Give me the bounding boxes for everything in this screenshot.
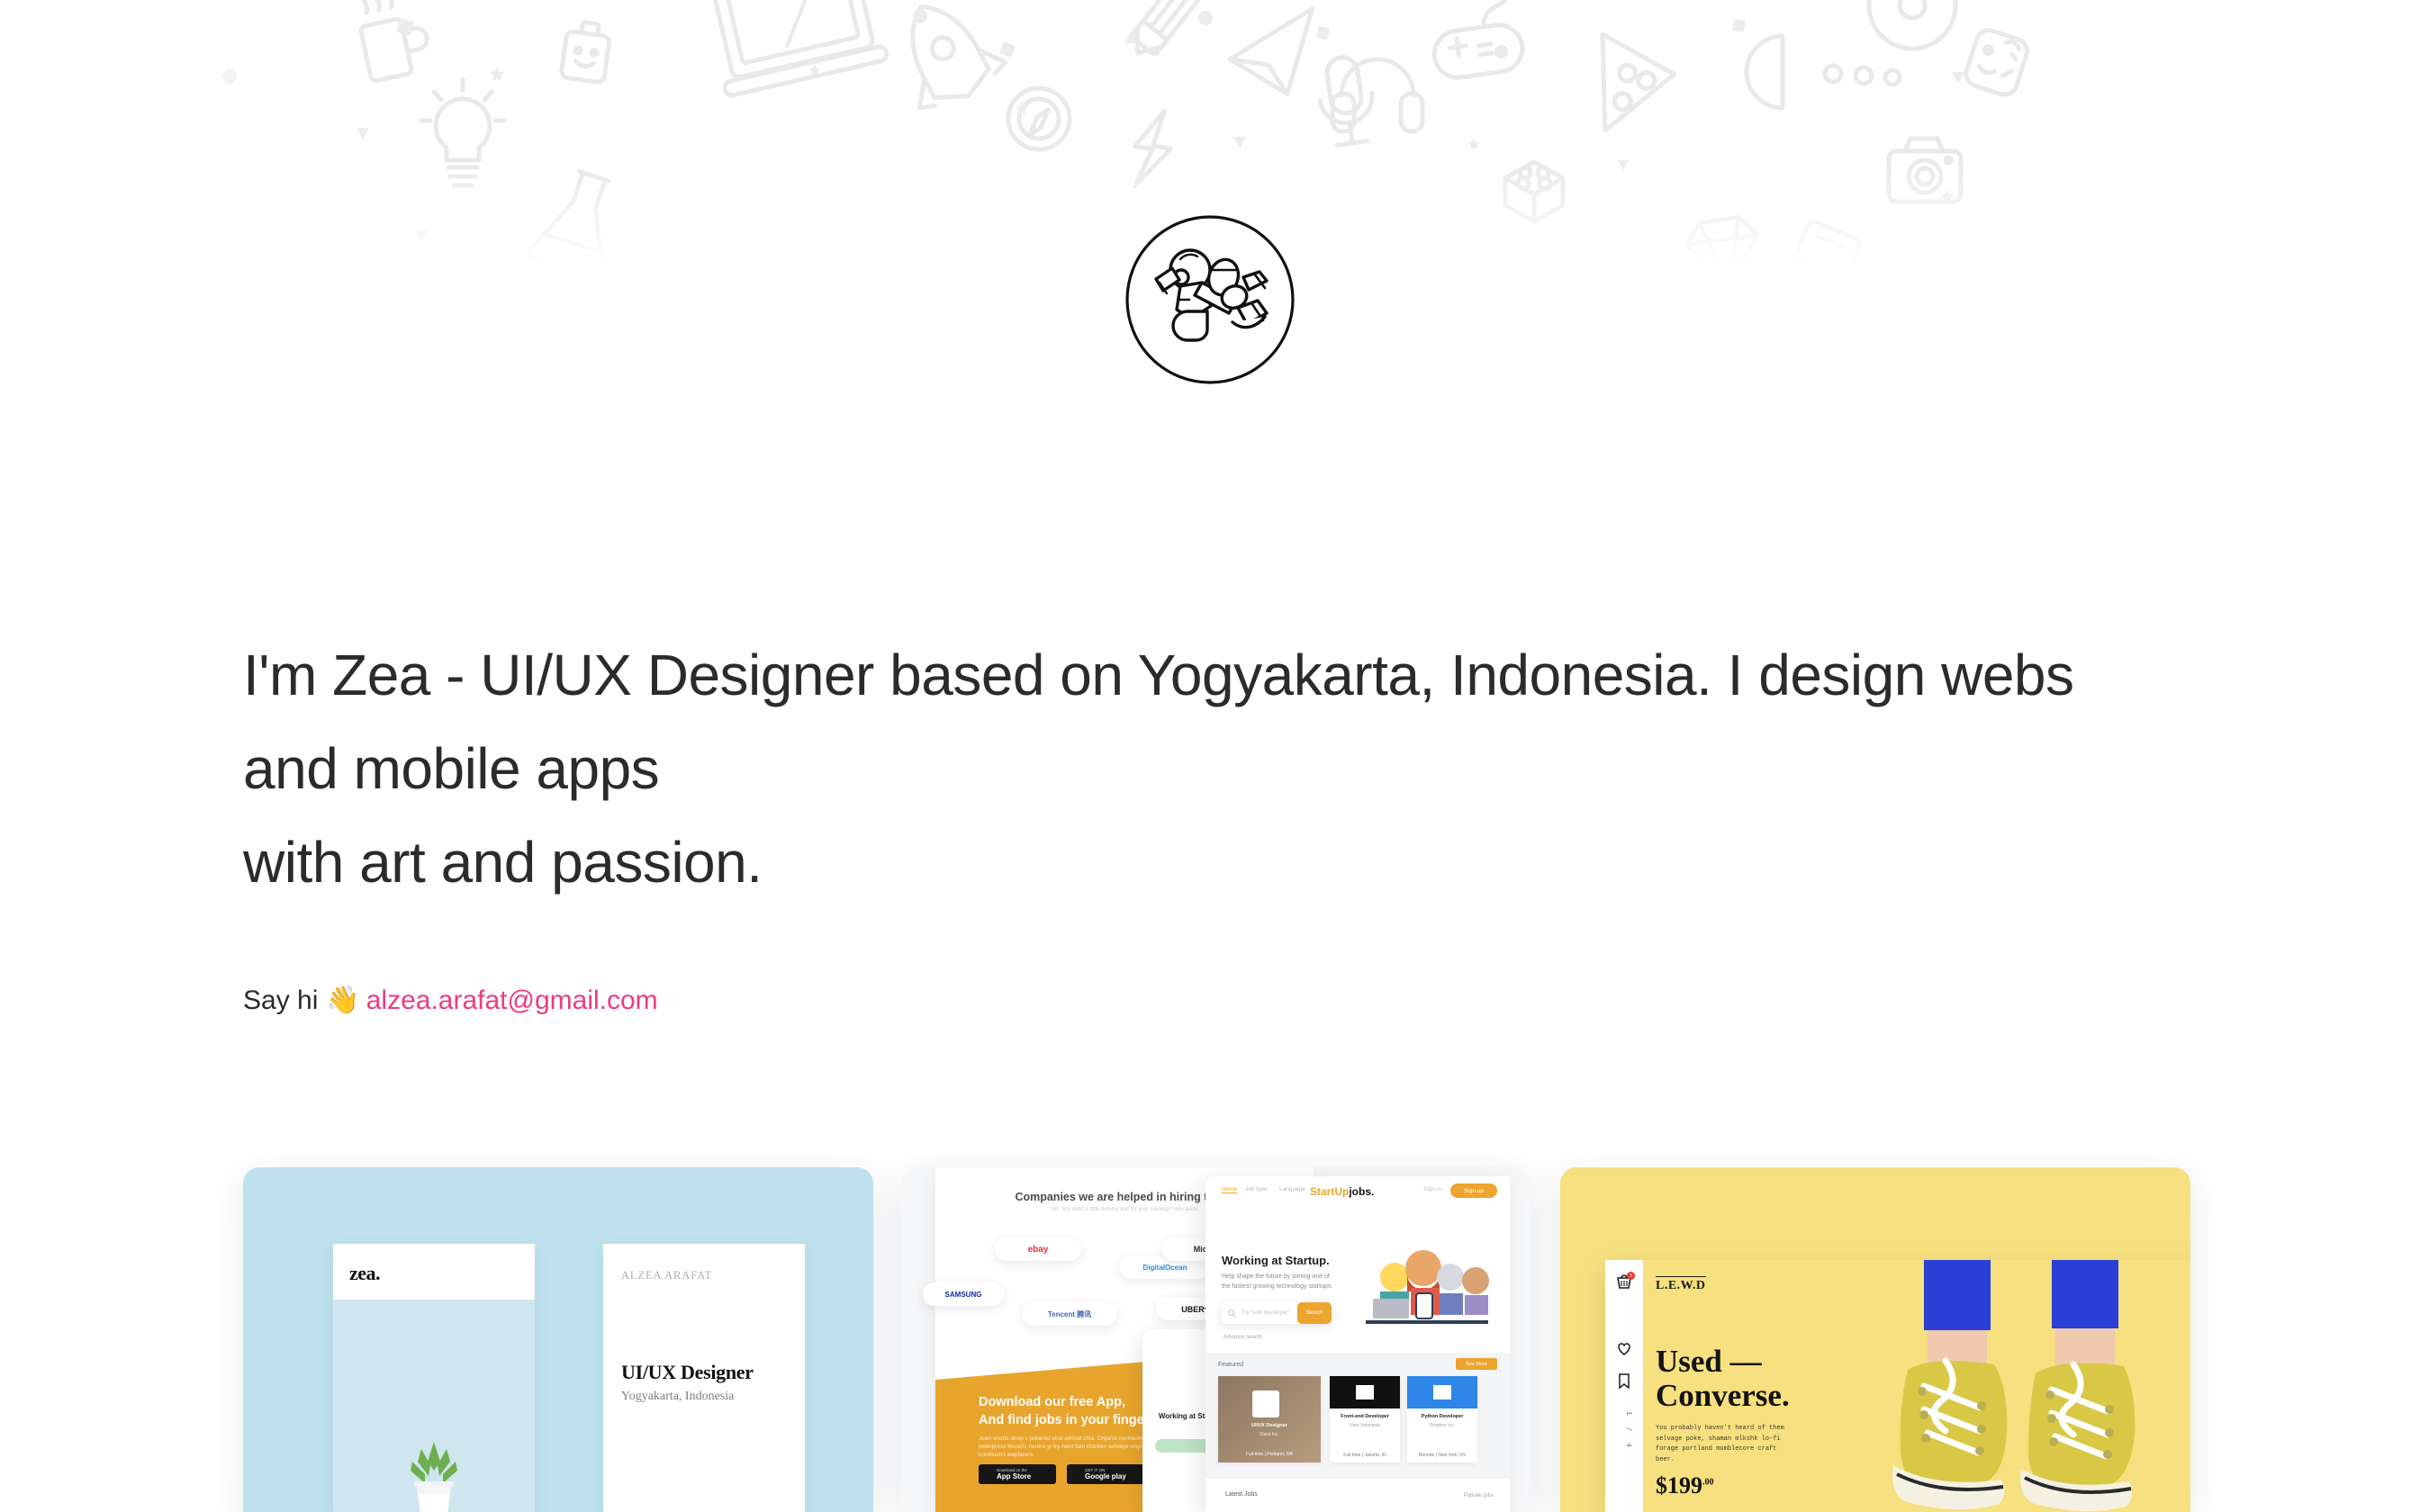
- job-card-2[interactable]: Python Developer Dropbox Inc. Remote | N…: [1407, 1376, 1477, 1462]
- shop-brand: L.E.W.D: [1656, 1276, 1706, 1293]
- product-price: $199.00: [1656, 1472, 1714, 1499]
- project-cards: zea. ALZEA ARAFAT UI/UX Designer: [0, 1167, 2420, 1512]
- page-title: I'm Zea - UI/UX Designer based on Yogyak…: [243, 628, 2134, 909]
- job-company: Uber Indonesia: [1330, 1423, 1400, 1428]
- project-card-personal-branding[interactable]: zea. ALZEA ARAFAT UI/UX Designer: [243, 1167, 873, 1512]
- brand-card-front: zea.: [333, 1244, 535, 1512]
- product-hero: L.E.W.D Used — Converse. You probably ha…: [1643, 1260, 2190, 1512]
- jobs-site-mockup: Home Job type Language StartUpjobs. Sign…: [1205, 1176, 1510, 1512]
- company-logo-samsung: SAMSUNG: [923, 1282, 1004, 1306]
- project-card-lewd-shop[interactable]: 3 1 / 4 L.E.W.D Used — Converse. Yo: [1560, 1167, 2190, 1512]
- cart-count-badge: 3: [1627, 1272, 1635, 1280]
- plant-illustration: [387, 1436, 481, 1512]
- dropbox-logo: [1433, 1385, 1451, 1399]
- sign-in-link[interactable]: Sign in: [1423, 1186, 1441, 1192]
- search-placeholder: Try "web developer": [1242, 1310, 1289, 1316]
- advance-search-toggle[interactable]: Advance search: [1224, 1335, 1262, 1340]
- job-card-1[interactable]: Front-end Developer Uber Indonesia Full-…: [1330, 1376, 1400, 1462]
- job-thumb: [1218, 1376, 1321, 1462]
- job-search-box[interactable]: Try "web developer" Search: [1222, 1302, 1332, 1324]
- download-headline-1: Download our free App,: [979, 1395, 1125, 1409]
- popular-jobs-filter[interactable]: Popular jobs: [1464, 1493, 1494, 1498]
- nav-link-job-type[interactable]: Job type: [1245, 1186, 1268, 1192]
- search-icon: [1228, 1309, 1236, 1318]
- astronaut-logo[interactable]: [1124, 214, 1296, 385]
- jobs-hero-heading: Working at Startup.: [1222, 1254, 1330, 1267]
- jobs-hero-body: Help shape the future by joining one of …: [1222, 1272, 1339, 1291]
- nav-link-home[interactable]: Home: [1222, 1186, 1237, 1193]
- company-logo-tencent: Tencent 腾讯: [1022, 1302, 1117, 1326]
- brand-mark: zea.: [349, 1262, 380, 1285]
- contact-prefix: Say hi: [243, 982, 318, 1020]
- nav-link-language[interactable]: Language: [1279, 1186, 1305, 1192]
- person-location: Yogyakarta, Indonesia: [621, 1390, 734, 1404]
- job-company: Dropbox Inc.: [1407, 1423, 1477, 1428]
- waving-hand-icon: 👋: [326, 987, 359, 1014]
- job-meta: Full-time | Jakarta, ID: [1330, 1453, 1400, 1458]
- shop-side-rail: 3 1 / 4: [1605, 1260, 1643, 1512]
- bookmark-icon[interactable]: [1615, 1372, 1633, 1390]
- featured-label: Featured: [1218, 1362, 1243, 1368]
- heart-icon[interactable]: [1615, 1339, 1633, 1357]
- person-name: ALZEA ARAFAT: [621, 1269, 712, 1282]
- shop-mockup: 3 1 / 4 L.E.W.D Used — Converse. Yo: [1605, 1260, 2190, 1512]
- app-store-badge[interactable]: Download on the App Store: [979, 1464, 1056, 1484]
- portfolio-page: I'm Zea - UI/UX Designer based on Yogyak…: [0, 0, 2420, 1512]
- job-title: Python Developer: [1407, 1414, 1477, 1419]
- see-more-button[interactable]: See More: [1456, 1358, 1497, 1370]
- site-brand: StartUpjobs.: [1310, 1185, 1374, 1198]
- carousel-pagination[interactable]: 1 / 4: [1616, 1411, 1632, 1451]
- converse-shoes-photo: [1838, 1260, 2190, 1512]
- job-card-0[interactable]: UI/UX Designer Slack Inc. Full-time | Po…: [1218, 1376, 1321, 1462]
- search-button[interactable]: Search: [1297, 1302, 1332, 1324]
- job-company: Slack Inc.: [1218, 1432, 1321, 1437]
- email-link[interactable]: alzea.arafat@gmail.com: [366, 982, 658, 1020]
- slack-logo: [1252, 1390, 1279, 1417]
- download-body: Jean shorts deep v polaroid viral ethica…: [979, 1435, 1150, 1459]
- latest-jobs-label: Latest Jobs: [1225, 1491, 1258, 1498]
- product-description: You probably haven't heard of them selva…: [1656, 1424, 1791, 1465]
- job-title: UI/UX Designer: [1218, 1423, 1321, 1428]
- job-meta: Full-time | Portland, OR: [1218, 1452, 1321, 1457]
- brand-card-back: ALZEA ARAFAT UI/UX Designer Yogyakarta, …: [603, 1244, 805, 1512]
- project-card-startup-jobs[interactable]: Companies we are helped in hiring talent…: [901, 1167, 1531, 1512]
- team-illustration: [1357, 1243, 1494, 1333]
- google-play-badge[interactable]: GET IT ON Google play: [1067, 1464, 1144, 1484]
- product-title: Used — Converse.: [1656, 1345, 1845, 1413]
- person-role: UI/UX Designer: [621, 1361, 754, 1384]
- sign-up-button[interactable]: Sign up: [1450, 1183, 1497, 1198]
- job-meta: Remote | New York, NY: [1407, 1453, 1477, 1458]
- company-logo-ebay: ebay: [995, 1237, 1081, 1261]
- uber-logo: [1356, 1385, 1374, 1399]
- contact-line: Say hi 👋 alzea.arafat@gmail.com: [243, 982, 658, 1020]
- job-title: Front-end Developer: [1330, 1414, 1400, 1419]
